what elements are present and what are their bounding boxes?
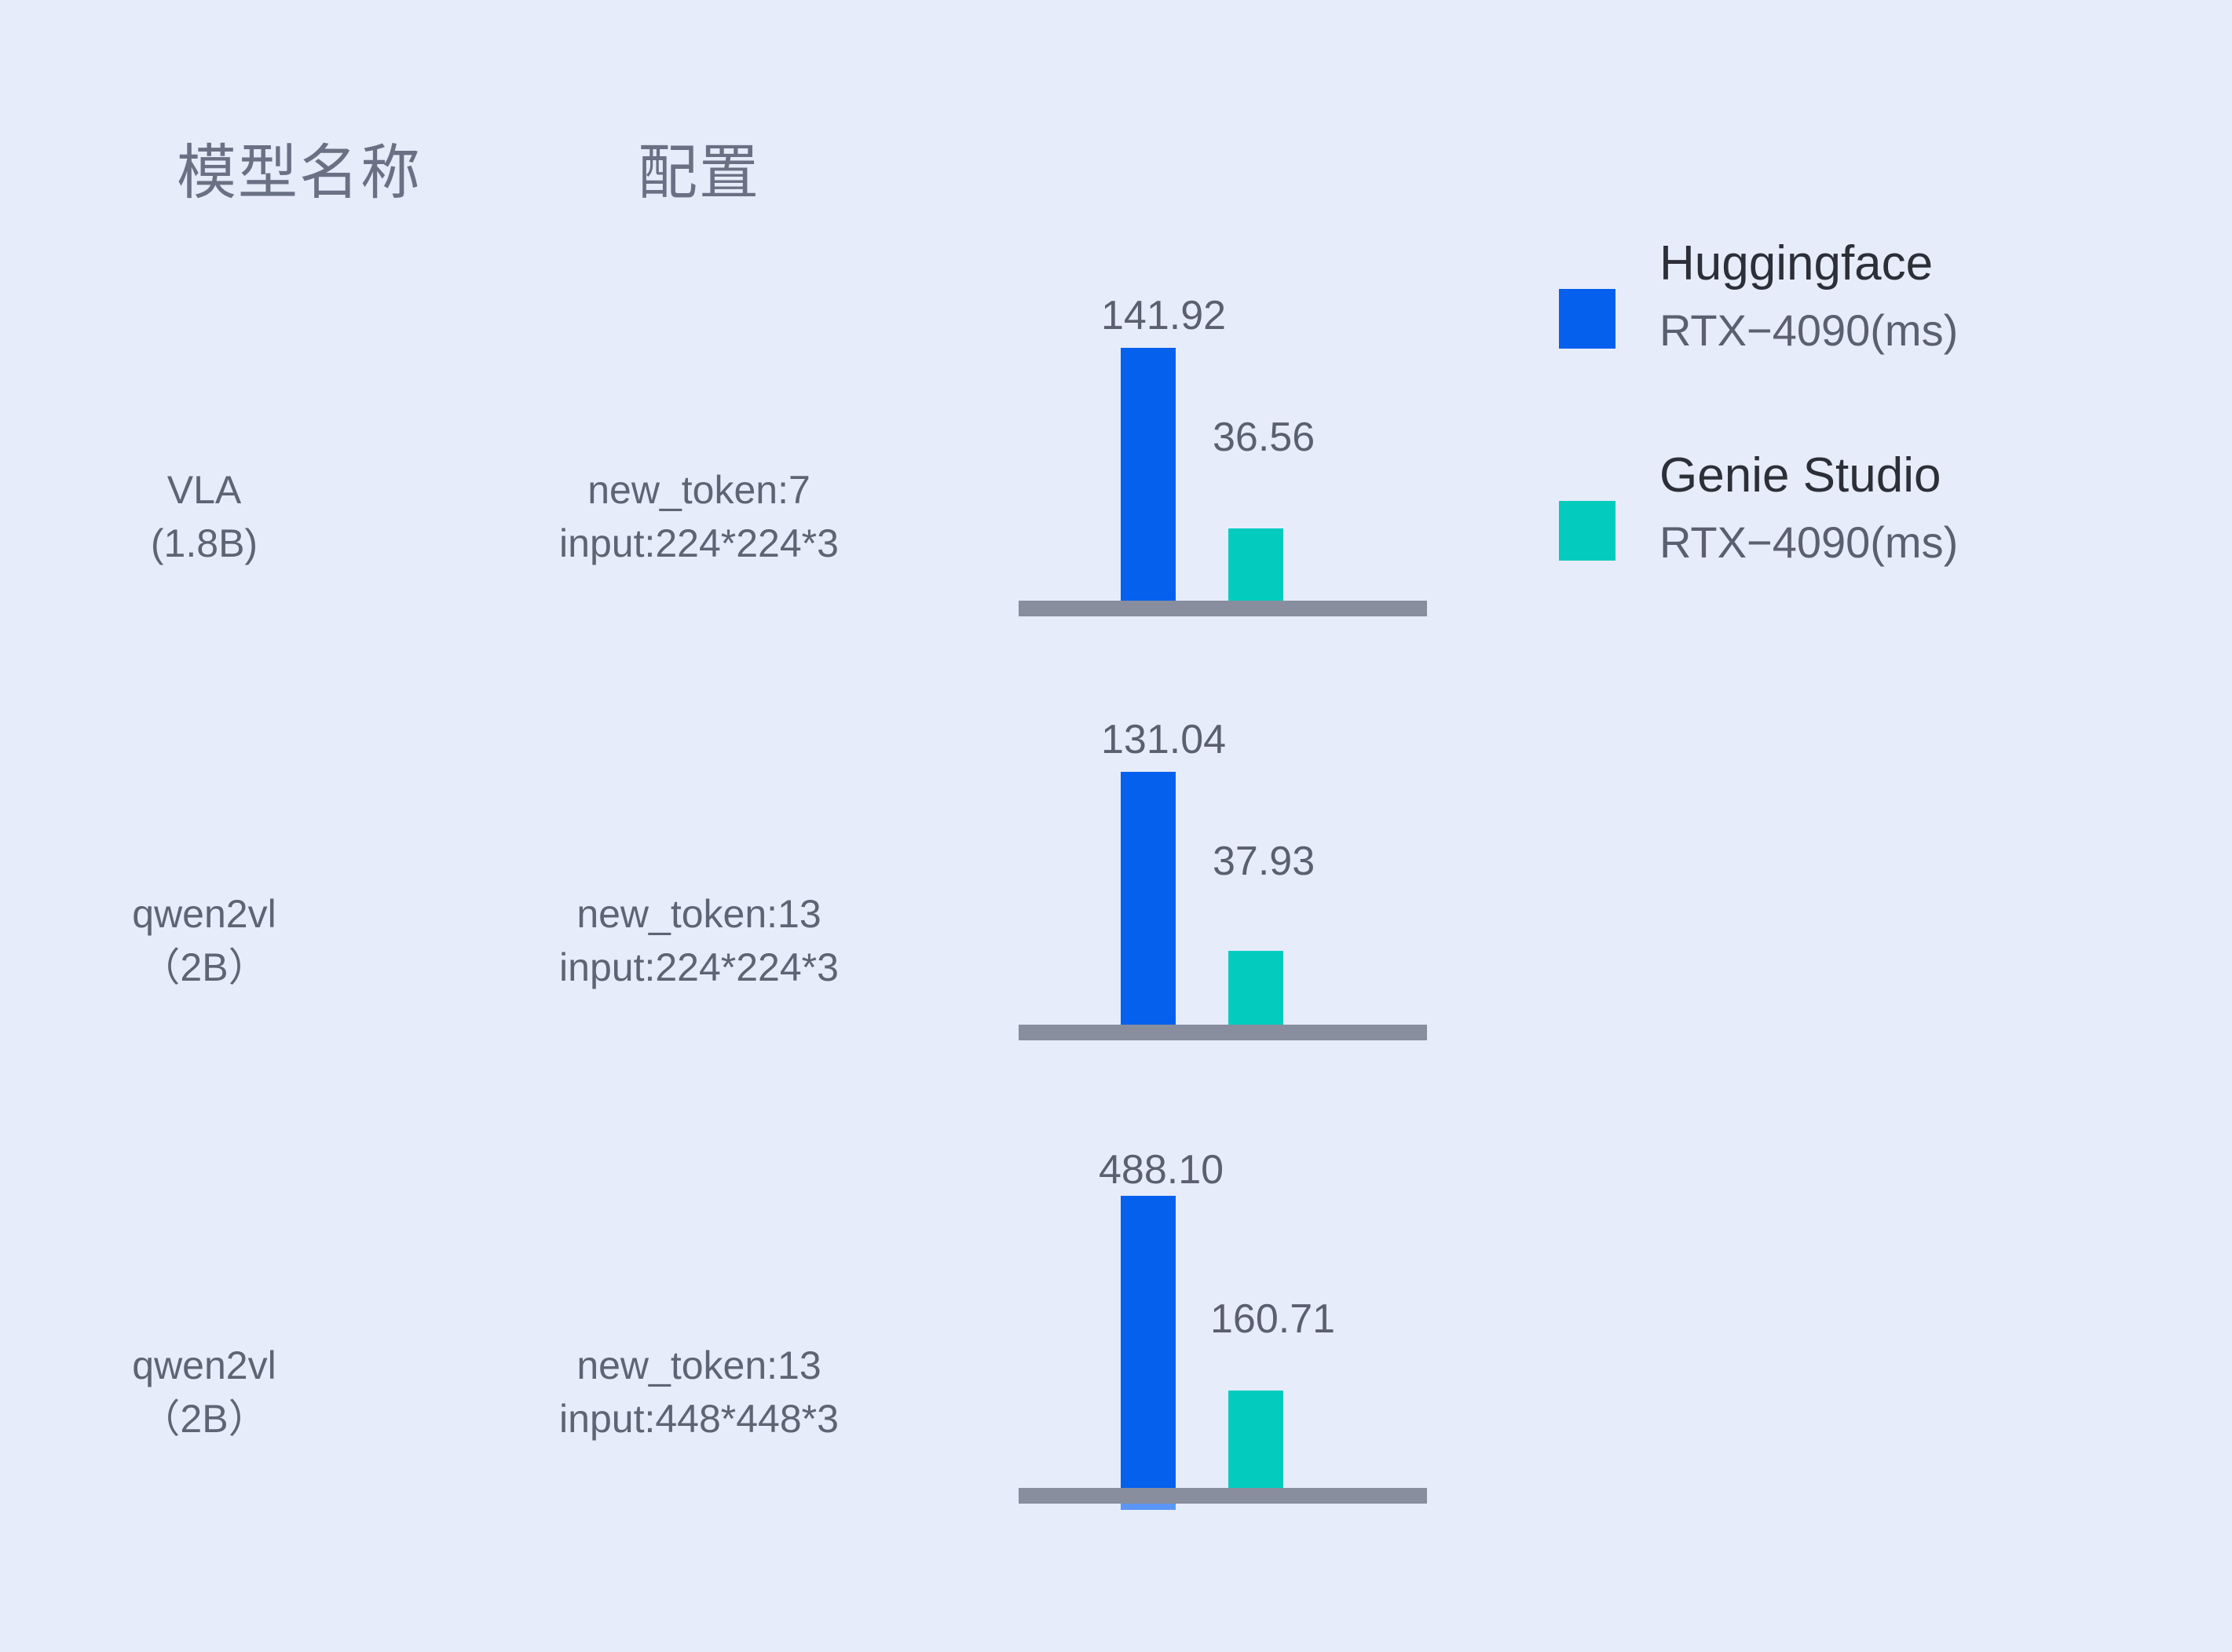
legend-subtitle-huggingface: RTX−4090(ms) — [1659, 305, 1958, 356]
row-model-label: qwen2vl （2B） — [94, 1339, 314, 1445]
baseline-rule — [1019, 1488, 1427, 1504]
bar-genie[interactable] — [1228, 951, 1283, 1025]
row-config-line-2: input:224*224*3 — [471, 517, 927, 570]
chart-canvas: 模型名称 配置 VLA (1.8B) new_token:7 input:224… — [0, 0, 2232, 1652]
baseline-rule — [1019, 1025, 1427, 1040]
legend-subtitle-genie-studio: RTX−4090(ms) — [1659, 517, 1958, 568]
row-config-line-1: new_token:13 — [471, 1339, 927, 1392]
legend-item-huggingface[interactable]: Huggingface RTX−4090(ms) — [1559, 236, 2046, 408]
bar-huggingface[interactable] — [1121, 772, 1176, 1025]
column-header-model-name: 模型名称 — [177, 124, 422, 210]
bar-group: 488.10 160.71 — [1019, 1162, 1427, 1488]
baseline-rule — [1019, 601, 1427, 616]
bar-value-label-genie: 160.71 — [1210, 1296, 1335, 1343]
legend-swatch-genie-studio-icon — [1559, 501, 1615, 561]
row-config-label: new_token:13 input:448*448*3 — [471, 1339, 927, 1445]
bar-value-label-genie: 36.56 — [1213, 414, 1315, 461]
bar-group: 131.04 37.93 — [1019, 738, 1427, 1025]
row-model-line-1: VLA — [94, 463, 314, 517]
row-model-label: qwen2vl （2B） — [94, 887, 314, 994]
row-config-label: new_token:7 input:224*224*3 — [471, 463, 927, 570]
legend-title-huggingface: Huggingface — [1659, 236, 1933, 291]
row-model-line-1: qwen2vl — [94, 887, 314, 941]
bar-genie[interactable] — [1228, 528, 1283, 601]
row-config-line-2: input:448*448*3 — [471, 1392, 927, 1445]
bar-genie[interactable] — [1228, 1391, 1283, 1488]
bar-huggingface[interactable] — [1121, 1196, 1176, 1488]
row-config-line-1: new_token:13 — [471, 887, 927, 941]
bar-value-label-genie: 37.93 — [1213, 838, 1315, 885]
legend-swatch-huggingface-icon — [1559, 289, 1615, 349]
column-header-config: 配置 — [638, 124, 760, 210]
row-config-line-1: new_token:7 — [471, 463, 927, 517]
bar-value-label-huggingface: 131.04 — [1101, 716, 1226, 763]
bar-huggingface-overflow — [1121, 1504, 1176, 1510]
row-model-line-2: （2B） — [94, 1392, 314, 1445]
bar-group: 141.92 36.56 — [1019, 314, 1427, 601]
table-row: qwen2vl （2B） new_token:13 input:224*224*… — [0, 738, 2232, 1178]
row-model-label: VLA (1.8B) — [94, 463, 314, 570]
table-row: qwen2vl （2B） new_token:13 input:448*448*… — [0, 1162, 2232, 1633]
bar-value-label-huggingface: 488.10 — [1099, 1146, 1224, 1193]
bar-value-label-huggingface: 141.92 — [1101, 292, 1226, 339]
row-config-label: new_token:13 input:224*224*3 — [471, 887, 927, 994]
row-model-line-2: (1.8B) — [94, 517, 314, 570]
row-model-line-2: （2B） — [94, 941, 314, 994]
bar-huggingface[interactable] — [1121, 348, 1176, 601]
legend-item-genie-studio[interactable]: Genie Studio RTX−4090(ms) — [1559, 448, 2046, 620]
row-config-line-2: input:224*224*3 — [471, 941, 927, 994]
legend-title-genie-studio: Genie Studio — [1659, 448, 1941, 503]
row-model-line-1: qwen2vl — [94, 1339, 314, 1392]
